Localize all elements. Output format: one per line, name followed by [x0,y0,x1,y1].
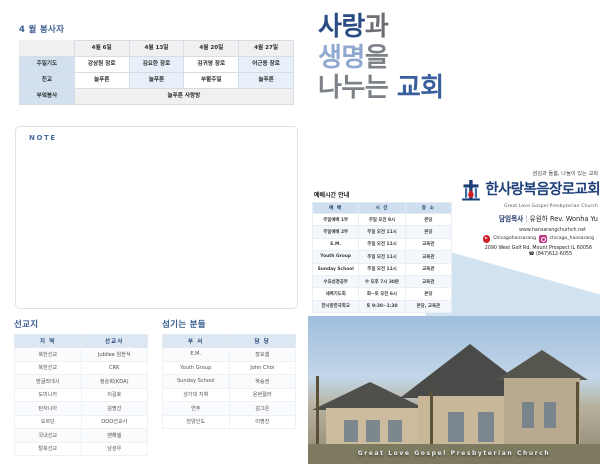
table-row: 수요성경공부 수 오후 7시 30분 교육관 [313,275,452,287]
youtube-icon[interactable] [483,235,491,243]
photo-window [344,420,358,442]
volunteer-cell: 김요한 장로 [129,57,184,73]
left-panel: 4 월 봉사자 4월 6일 4월 13일 4월 20일 4월 27일 주일기도 … [0,0,308,464]
worship-place: 본당, 교육관 [405,300,451,312]
slogan-line-3: 나누는 교회 [318,73,498,104]
worship-col-place: 장 소 [405,203,451,214]
worship-schedule-table: 예 배 시 간 장 소 주일예배 1부 주일 오전 9시 본당 주일예배 2부 … [312,202,452,313]
serving-person: 김그은 [229,402,296,416]
mission-region: 북한선교 [15,361,82,375]
slogan-line-1: 사랑과 [318,12,498,43]
serving-title: 섬기는 분들 [162,318,296,330]
serving-department: Sunday School [163,375,230,389]
worship-time: 화~토 오전 6시 [359,288,405,300]
worship-service: E.M. [313,238,359,250]
table-row: 주일예배 2부 주일 오전 11시 본당 [313,226,452,238]
worship-service: Youth Group [313,251,359,263]
volunteer-table: 4월 6일 4월 13일 4월 20일 4월 27일 주일기도 강상원 장로 김… [19,40,294,105]
photo-window [448,412,464,442]
table-row: 국내선교 벤해넬 [15,429,148,443]
photo-roof-right [496,350,588,380]
volunteer-header-date-4: 4월 27일 [239,41,294,57]
worship-place: 교육관 [405,251,451,263]
serving-person: 윤현절라 [229,388,296,402]
table-row: Sunday School 하승권 [163,375,296,389]
table-row: 찬양인도 이명진 [163,415,296,429]
table-row: 주일예배 1부 주일 오전 9시 본당 [313,214,452,226]
table-row: Sunday School 주일 오전 11시 교육관 [313,263,452,275]
worship-time: 주일 오전 11시 [359,251,405,263]
slogan-rest-3: 교회 [388,73,443,103]
mission-region: 국내선교 [15,429,82,443]
worship-place: 본당 [405,214,451,226]
mission-region: 탄자니아 [15,402,82,416]
worship-service: 수요성경공부 [313,275,359,287]
slogan-strong-2: 생명 [318,43,365,73]
church-name-korean: 한사랑복음장로교회 [485,183,600,198]
volunteer-header-row: 4월 6일 4월 13일 4월 20일 4월 27일 [20,41,294,57]
table-row: Youth Group John Choi [163,361,296,375]
volunteer-cell: 늘푸른 [74,73,129,89]
mission-missionary: Jubilee 임한식 [81,348,148,362]
worship-time: 수 오후 7시 30분 [359,275,405,287]
worship-place: 교육관 [405,238,451,250]
photo-tree [316,376,319,448]
table-row: 연주 김그은 [163,402,296,416]
mission-missionary: 이길호 [81,388,148,402]
volunteer-cell: 부활주일 [184,73,239,89]
photo-window [544,402,556,428]
serving-table: 부 서 담 당 E.M. 장요셉 Youth Group John Choi S… [162,334,296,429]
table-row: 주일기도 강상원 장로 김요한 장로 김귀영 장로 어근용 장로 [20,57,294,73]
photo-window [388,420,402,442]
mission-missionary: OOO선교사 [81,415,148,429]
serving-department: 찬양인도 [163,415,230,429]
volunteer-cell: 어근용 장로 [239,57,294,73]
pastor-separator: | [525,215,527,223]
table-row: 북한선교 CRK [15,361,148,375]
mission-header-row: 지 역 선교사 [15,335,148,348]
table-row: 성가대 지휘 윤현절라 [163,388,296,402]
serving-department: 성가대 지휘 [163,388,230,402]
serving-person: 이명진 [229,415,296,429]
worship-service: 한사랑한국학교 [313,300,359,312]
instagram-icon[interactable] [539,235,547,243]
photo-tree [430,390,433,448]
worship-service: 주일예배 1부 [313,214,359,226]
worship-place: 본당 [405,288,451,300]
photo-window [522,402,534,428]
mission-region: 탈북선교 [15,442,82,456]
table-row: 부엌봉사 늘푸른 사랑방 [20,89,294,105]
slogan-line-2: 생명을 [318,43,498,74]
worship-time: 주일 오전 11시 [359,238,405,250]
mission-title: 선교지 [14,318,148,330]
serving-department: Youth Group [163,361,230,375]
mission-section: 선교지 지 역 선교사 북한선교 Jubilee 임한식 북한선교 CRK 방글… [14,318,148,456]
note-label: NOTE [29,134,57,142]
worship-service: 새벽기도회 [313,288,359,300]
photo-caption: Great Love Gospel Presbyterian Church [308,450,600,457]
serving-person: John Choi [229,361,296,375]
volunteer-section: 4 월 봉사자 4월 6일 4월 13일 4월 20일 4월 27일 주일기도 … [19,23,294,105]
mission-missionary: CRK [81,361,148,375]
volunteer-header-date-2: 4월 13일 [129,41,184,57]
worship-service: 주일예배 2부 [313,226,359,238]
mission-region: 북한선교 [15,348,82,362]
note-box[interactable]: NOTE [15,126,298,309]
mission-col-region: 지 역 [15,335,82,348]
table-row: 새벽기도회 화~토 오전 6시 본당 [313,288,452,300]
slogan-rest-1: 과 [365,12,388,42]
serving-person: 장요셉 [229,348,296,362]
volunteer-header-date-1: 4월 6일 [74,41,129,57]
serving-col-person: 담 당 [229,335,296,348]
volunteer-header-blank [20,41,75,57]
table-row: Youth Group 주일 오전 11시 교육관 [313,251,452,263]
photo-window [366,420,380,442]
mission-region: 도미니카 [15,388,82,402]
right-panel: 사랑과 생명을 나누는 교회 섬김과 돌봄, 나눔이 있는 교회 [308,0,600,464]
worship-place: 교육관 [405,275,451,287]
volunteer-cell: 김귀영 장로 [184,57,239,73]
pastor-label: 담임목사 [499,215,523,223]
photo-window [478,412,494,442]
worship-schedule-section: 예배시간 안내 예 배 시 간 장 소 주일예배 1부 주일 오전 9시 본당 … [312,190,452,313]
volunteer-cell: 강상원 장로 [74,57,129,73]
worship-schedule-title: 예배시간 안내 [312,190,452,199]
mission-table: 지 역 선교사 북한선교 Jubilee 임한식 북한선교 CRK 방글라데시 … [14,334,148,456]
table-row: 도미니카 이길호 [15,388,148,402]
volunteer-row-label-prayer: 주일기도 [20,57,75,73]
serving-department: 연주 [163,402,230,416]
slogan-block: 사랑과 생명을 나누는 교회 [318,12,498,104]
worship-time: 주일 오전 9시 [359,214,405,226]
worship-col-time: 시 간 [359,203,405,214]
volunteer-title: 4 월 봉사자 [19,23,294,35]
worship-col-service: 예 배 [313,203,359,214]
table-row: 방글라데시 정순희(KDA) [15,375,148,389]
church-photo: Great Love Gospel Presbyterian Church [308,316,600,464]
mission-missionary: 김명선 [81,402,148,416]
worship-header-row: 예 배 시 간 장 소 [313,203,452,214]
volunteer-cell: 늘푸른 [239,73,294,89]
worship-place: 교육관 [405,263,451,275]
serving-header-row: 부 서 담 당 [163,335,296,348]
pastor-name: 유원하 Rev. Wonha Yu [530,215,598,223]
youtube-handle[interactable]: Chicagohansarang [493,236,536,241]
worship-time: 주일 오전 11시 [359,226,405,238]
church-tagline: 섬김과 돌봄, 나눔이 있는 교회 [412,170,600,177]
table-row: E.M. 주일 오전 11시 교육관 [313,238,452,250]
table-row: 탄자니아 김명선 [15,402,148,416]
mission-missionary: 벤해넬 [81,429,148,443]
mission-region: 요르단 [15,415,82,429]
instagram-handle[interactable]: chicago_hansarang [550,236,594,241]
mission-region: 방글라데시 [15,375,82,389]
volunteer-merged-cell: 늘푸른 사랑방 [74,89,293,105]
slogan-strong-3: 나누는 [318,73,388,103]
volunteer-cell: 늘푸른 [129,73,184,89]
serving-section: 섬기는 분들 부 서 담 당 E.M. 장요셉 Youth Group John… [162,318,296,429]
bulletin-page: 4 월 봉사자 4월 6일 4월 13일 4월 20일 4월 27일 주일기도 … [0,0,600,464]
slogan-rest-2: 을 [365,43,388,73]
mission-missionary: 정순희(KDA) [81,375,148,389]
volunteer-row-label-kitchen: 부엌봉사 [20,89,75,105]
table-row: 친교 늘푸른 늘푸른 부활주일 늘푸른 [20,73,294,89]
table-row: 요르단 OOO선교사 [15,415,148,429]
worship-place: 본당 [405,226,451,238]
table-row: 탈북선교 남성우 [15,442,148,456]
table-row: 한사랑한국학교 토 9:30~1:30 본당, 교육관 [313,300,452,312]
volunteer-header-date-3: 4월 20일 [184,41,239,57]
mission-col-missionary: 선교사 [81,335,148,348]
photo-tree [576,382,579,448]
volunteer-row-label-fellowship: 친교 [20,73,75,89]
table-row: E.M. 장요셉 [163,348,296,362]
serving-col-department: 부 서 [163,335,230,348]
mission-missionary: 남성우 [81,442,148,456]
serving-department: E.M. [163,348,230,362]
worship-time: 주일 오전 11시 [359,263,405,275]
slogan-strong-1: 사랑 [318,12,365,42]
church-logo-icon [460,179,482,202]
serving-person: 하승권 [229,375,296,389]
worship-service: Sunday School [313,263,359,275]
table-row: 북한선교 Jubilee 임한식 [15,348,148,362]
worship-time: 토 9:30~1:30 [359,300,405,312]
